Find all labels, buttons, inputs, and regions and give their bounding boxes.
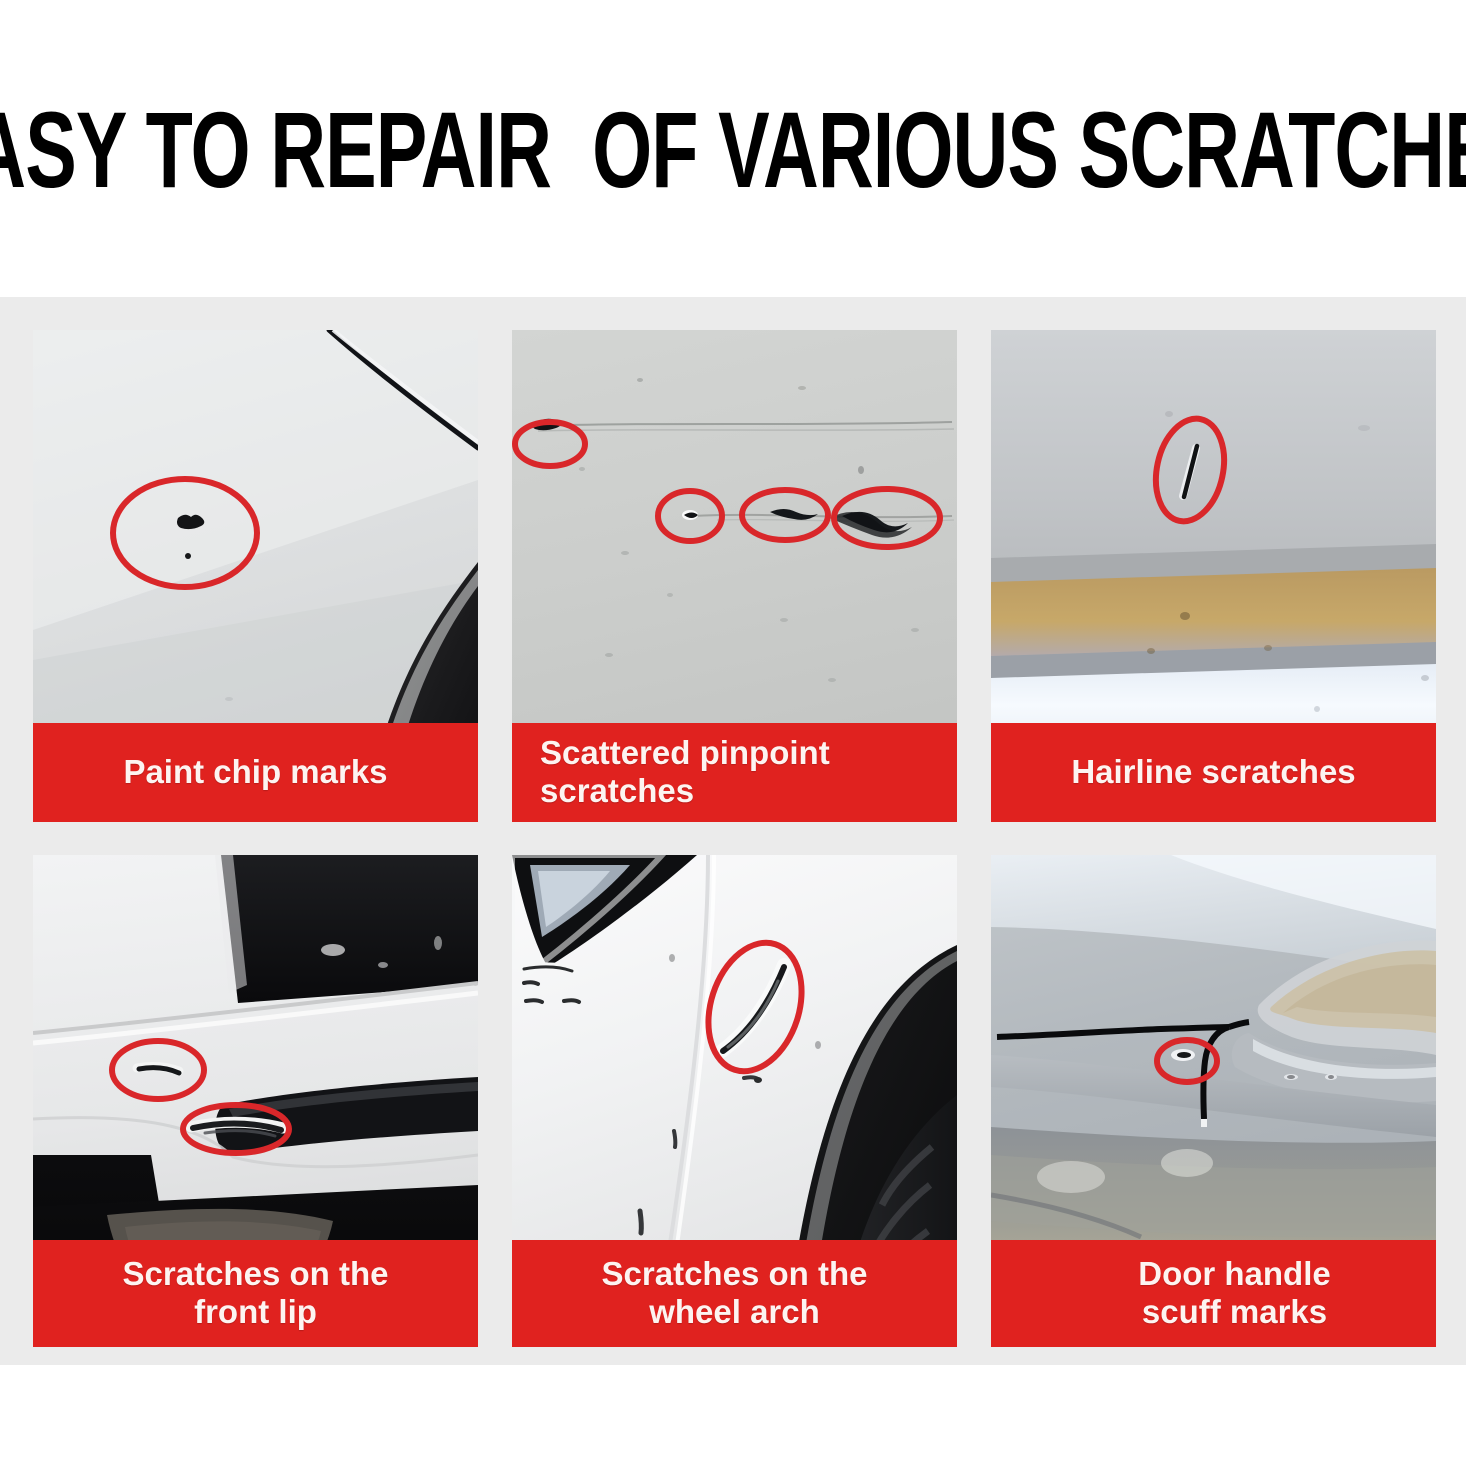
- caption-line: Hairline scratches: [1009, 753, 1418, 791]
- caption-line: Scattered pinpoint: [540, 734, 939, 772]
- caption-hairline-scratches: Hairline scratches: [991, 723, 1436, 822]
- page-title: EASY TO REPAIR OF VARIOUS SCRATCHES: [0, 96, 1466, 204]
- caption-scratches-wheel-arch: Scratches on the wheel arch: [512, 1240, 957, 1347]
- card-scattered-pinpoint-scratches[interactable]: Scattered pinpoint scratches: [512, 330, 957, 822]
- caption-scattered-pinpoint-scratches: Scattered pinpoint scratches: [512, 723, 957, 822]
- caption-paint-chip-marks: Paint chip marks: [33, 723, 478, 822]
- card-scratches-wheel-arch[interactable]: Scratches on the wheel arch: [512, 855, 957, 1347]
- caption-line: scratches: [540, 772, 939, 810]
- caption-line: wheel arch: [530, 1293, 939, 1331]
- header: EASY TO REPAIR OF VARIOUS SCRATCHES: [0, 0, 1466, 300]
- caption-door-handle-scuff-marks: Door handle scuff marks: [991, 1240, 1436, 1347]
- caption-line: Scratches on the: [530, 1255, 939, 1293]
- card-door-handle-scuff-marks[interactable]: Door handle scuff marks: [991, 855, 1436, 1347]
- card-paint-chip-marks[interactable]: Paint chip marks: [33, 330, 478, 822]
- card-scratches-front-lip[interactable]: Scratches on the front lip: [33, 855, 478, 1347]
- caption-line: scuff marks: [1051, 1293, 1418, 1331]
- caption-line: Door handle: [1051, 1255, 1418, 1293]
- caption-scratches-front-lip: Scratches on the front lip: [33, 1240, 478, 1347]
- card-hairline-scratches[interactable]: Hairline scratches: [991, 330, 1436, 822]
- caption-line: Scratches on the: [51, 1255, 460, 1293]
- caption-line: front lip: [51, 1293, 460, 1331]
- scratch-type-grid: Paint chip marks: [33, 330, 1436, 1349]
- caption-line: Paint chip marks: [51, 753, 460, 791]
